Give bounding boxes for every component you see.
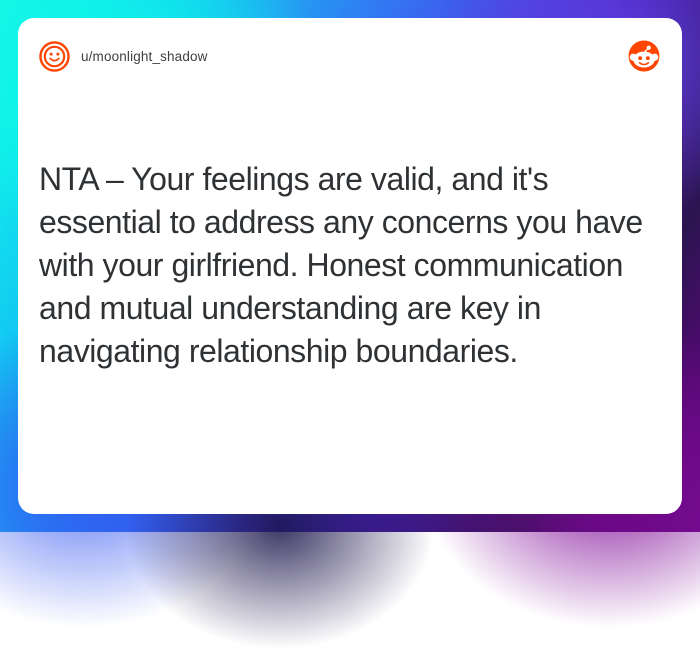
post-text: NTA – Your feelings are valid, and it's …: [39, 158, 645, 373]
post-body: NTA – Your feelings are valid, and it's …: [39, 158, 645, 373]
author-username: u/moonlight_shadow: [81, 49, 208, 64]
screenshot-canvas: u/moonlight_shadow NTA – Your feel: [0, 0, 700, 532]
post-header: u/moonlight_shadow: [18, 18, 682, 94]
reddit-snoo-icon[interactable]: [628, 40, 660, 72]
smiley-face-icon: [39, 41, 70, 72]
author-group[interactable]: u/moonlight_shadow: [39, 41, 628, 72]
reddit-post-card: u/moonlight_shadow NTA – Your feel: [18, 18, 682, 514]
